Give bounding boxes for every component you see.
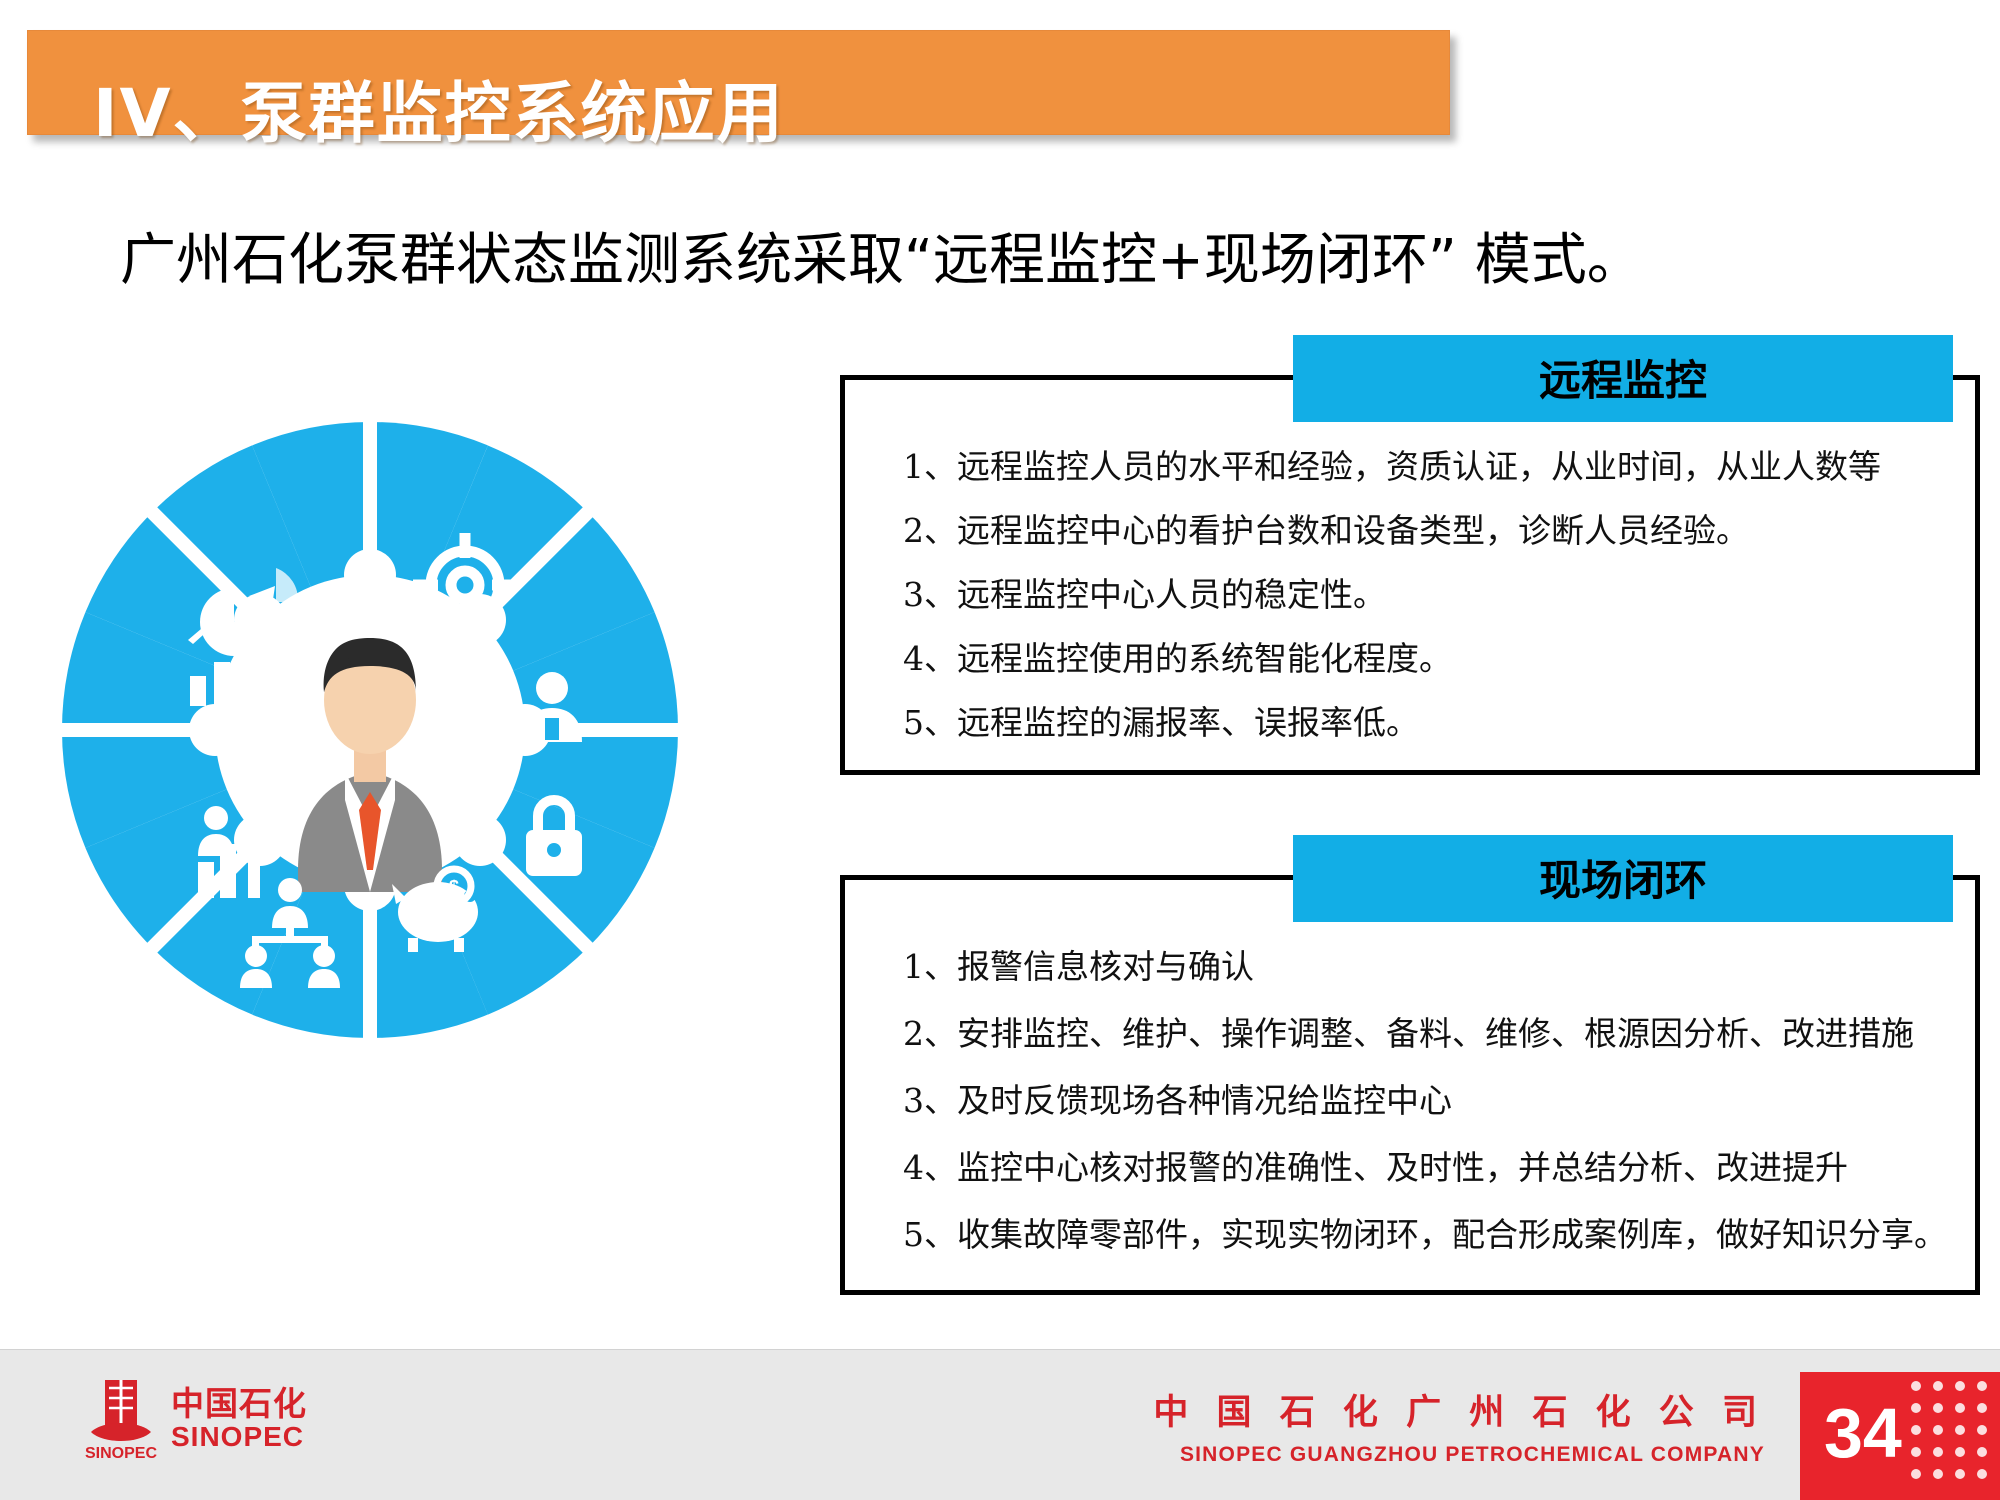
svg-text:$: $ bbox=[449, 877, 459, 897]
list-item: 1、远程监控人员的水平和经验，资质认证，从业时间，从业人数等 bbox=[903, 450, 1941, 483]
list-item: 3、远程监控中心人员的稳定性。 bbox=[903, 578, 1941, 611]
panel-remote-list: 1、远程监控人员的水平和经验，资质认证，从业时间，从业人数等 2、远程监控中心的… bbox=[845, 380, 1975, 769]
subtitle-text: 广州石化泵群状态监测系统采取“远程监控+现场闭环” 模式。 bbox=[120, 215, 1920, 296]
panel-onsite-box: 1、报警信息核对与确认 2、安排监控、维护、操作调整、备料、维修、根源因分析、改… bbox=[840, 875, 1980, 1295]
dot-pattern-decoration bbox=[1904, 1372, 2000, 1500]
panel-onsite-list: 1、报警信息核对与确认 2、安排监控、维护、操作调整、备料、维修、根源因分析、改… bbox=[845, 880, 1975, 1311]
page-number-badge: 34 bbox=[1800, 1372, 2000, 1500]
panel-remote-box: 1、远程监控人员的水平和经验，资质认证，从业时间，从业人数等 2、远程监控中心的… bbox=[840, 375, 1980, 775]
panel-remote-header: 远程监控 bbox=[1293, 335, 1953, 422]
sinopec-brand-en: SINOPEC bbox=[171, 1422, 307, 1451]
title-banner: IV、泵群监控系统应用 bbox=[27, 30, 1450, 135]
page-number: 34 bbox=[1824, 1398, 1902, 1468]
list-item: 3、及时反馈现场各种情况给监控中心 bbox=[903, 1084, 1941, 1117]
list-item: 2、远程监控中心的看护台数和设备类型，诊断人员经验。 bbox=[903, 514, 1941, 547]
company-name-cn: 中 国 石 化 广 州 石 化 公 司 bbox=[1153, 1384, 1765, 1435]
panel-onsite-header: 现场闭环 bbox=[1293, 835, 1953, 922]
slide-root: IV、泵群监控系统应用 广州石化泵群状态监测系统采取“远程监控+现场闭环” 模式… bbox=[0, 0, 2000, 1500]
list-item: 4、远程监控使用的系统智能化程度。 bbox=[903, 642, 1941, 675]
list-item: 1、报警信息核对与确认 bbox=[903, 950, 1941, 983]
list-item: 5、远程监控的漏报率、误报率低。 bbox=[903, 706, 1941, 739]
footer-bar: SINOPEC 中国石化 SINOPEC 中 国 石 化 广 州 石 化 公 司… bbox=[0, 1349, 2000, 1500]
sinopec-emblem-icon: SINOPEC bbox=[85, 1376, 157, 1462]
list-item: 4、监控中心核对报警的准确性、及时性，并总结分析、改进提升 bbox=[903, 1151, 1941, 1184]
svg-text:SINOPEC: SINOPEC bbox=[85, 1445, 157, 1462]
circular-infographic: $ bbox=[40, 400, 700, 1060]
list-item: 2、安排监控、维护、操作调整、备料、维修、根源因分析、改进措施 bbox=[903, 1017, 1941, 1050]
page-title: IV、泵群监控系统应用 bbox=[93, 81, 785, 147]
company-name-block: 中 国 石 化 广 州 石 化 公 司 SINOPEC GUANGZHOU PE… bbox=[1153, 1384, 1765, 1467]
sinopec-logo: SINOPEC 中国石化 SINOPEC bbox=[85, 1376, 307, 1462]
sinopec-brand-cn: 中国石化 bbox=[171, 1387, 307, 1422]
company-name-en: SINOPEC GUANGZHOU PETROCHEMICAL COMPANY bbox=[1153, 1443, 1765, 1467]
list-item: 5、收集故障零部件，实现实物闭环，配合形成案例库，做好知识分享。 bbox=[903, 1218, 1941, 1251]
